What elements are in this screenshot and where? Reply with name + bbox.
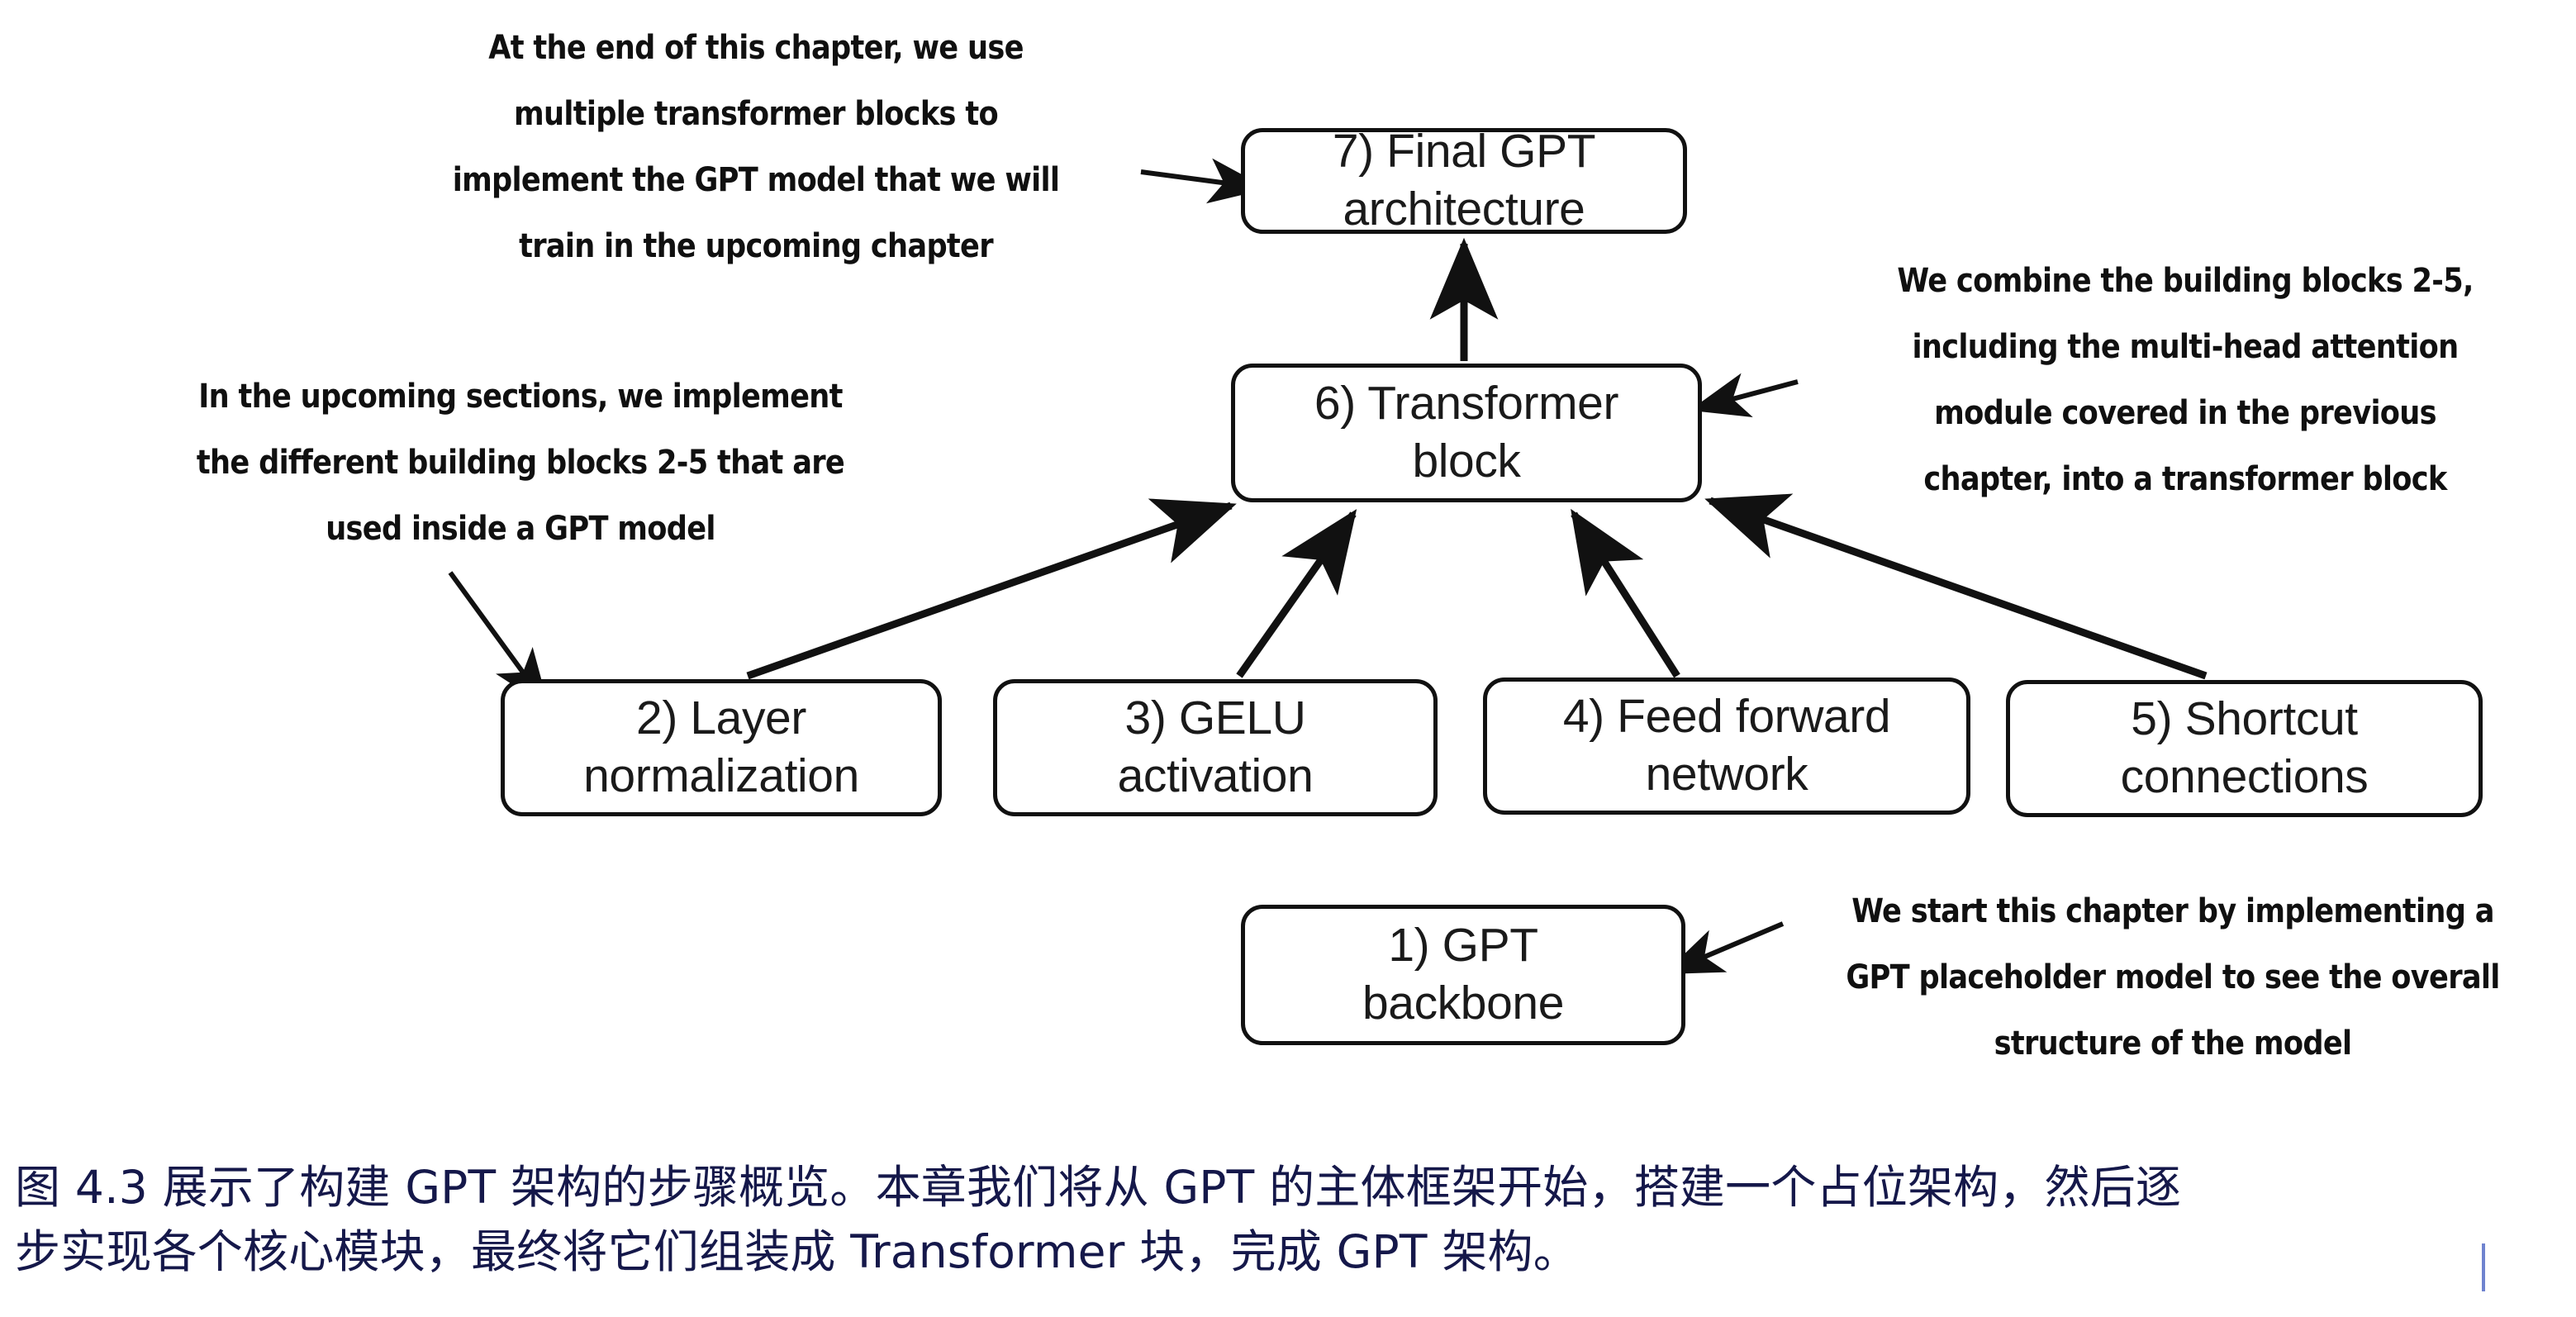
node-transformer-block[interactable]: 6) Transformer block xyxy=(1231,364,1702,502)
node-transformer-block-label: 6) Transformer block xyxy=(1314,375,1618,490)
node-feed-forward-network-label: 4) Feed forward network xyxy=(1563,688,1890,803)
node-final-gpt-architecture-label: 7) Final GPT architecture xyxy=(1333,123,1595,238)
text-cursor-caret xyxy=(2482,1243,2485,1291)
annotation-right: We combine the building blocks 2-5, incl… xyxy=(1840,248,2531,512)
annotation-left: In the upcoming sections, we implement t… xyxy=(157,364,884,562)
node-gelu-activation-label: 3) GELU activation xyxy=(1118,690,1314,805)
node-feed-forward-network[interactable]: 4) Feed forward network xyxy=(1483,678,1970,815)
edge-feedforward-to-transformer xyxy=(1574,514,1677,676)
node-gpt-backbone-label: 1) GPT backbone xyxy=(1362,917,1564,1032)
leader-note-right xyxy=(1692,382,1798,410)
caption-line-2: 步实现各个核心模块，最终将它们组装成 Transformer 块，完成 GPT … xyxy=(15,1220,2568,1284)
node-final-gpt-architecture[interactable]: 7) Final GPT architecture xyxy=(1241,128,1687,234)
figure-caption: 图 4.3 展示了构建 GPT 架构的步骤概览。本章我们将从 GPT 的主体框架… xyxy=(15,1155,2568,1284)
annotation-bottom-right: We start this chapter by implementing a … xyxy=(1817,878,2529,1077)
node-shortcut-connections[interactable]: 5) Shortcut connections xyxy=(2006,680,2483,817)
edge-gelu-to-transformer xyxy=(1239,514,1353,676)
caption-line-1: 图 4.3 展示了构建 GPT 架构的步骤概览。本章我们将从 GPT 的主体框架… xyxy=(15,1155,2568,1220)
node-shortcut-connections-label: 5) Shortcut connections xyxy=(2121,691,2369,806)
annotation-top-left: At the end of this chapter, we use multi… xyxy=(429,15,1083,279)
node-layer-normalization[interactable]: 2) Layer normalization xyxy=(501,679,942,816)
node-gpt-backbone[interactable]: 1) GPT backbone xyxy=(1241,905,1685,1045)
figure-canvas: 7) Final GPT architecture 6) Transformer… xyxy=(0,0,2576,1317)
edge-shortcut-to-transformer xyxy=(1710,501,2206,676)
node-gelu-activation[interactable]: 3) GELU activation xyxy=(993,679,1438,816)
node-layer-normalization-label: 2) Layer normalization xyxy=(583,690,859,805)
